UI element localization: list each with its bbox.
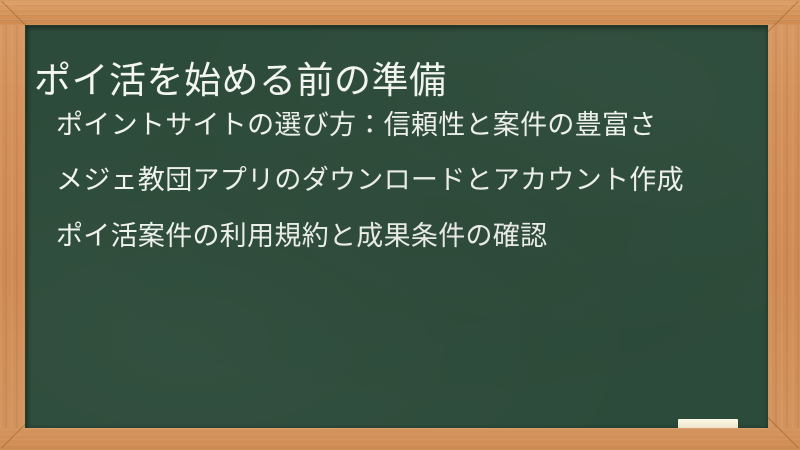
bullet-item-1: ポイントサイトの選び方：信頼性と案件の豊富さ [56,106,746,144]
frame-bottom-rail [0,428,800,450]
bullet-item-2: メジェ教団アプリのダウンロードとアカウント作成 [56,161,746,199]
frame-top-rail [0,0,800,25]
blackboard-slide: ポイ活を始める前の準備 ポイントサイトの選び方：信頼性と案件の豊富さ メジェ教団… [0,0,800,450]
bullet-item-3: ポイ活案件の利用規約と成果条件の確認 [56,217,746,255]
slide-title: ポイ活を始める前の準備 [34,59,734,103]
chalk-stick-icon [678,419,738,428]
chalkboard-surface: ポイ活を始める前の準備 ポイントサイトの選び方：信頼性と案件の豊富さ メジェ教団… [25,25,768,428]
bullet-list: ポイントサイトの選び方：信頼性と案件の豊富さ メジェ教団アプリのダウンロードとア… [56,106,746,255]
